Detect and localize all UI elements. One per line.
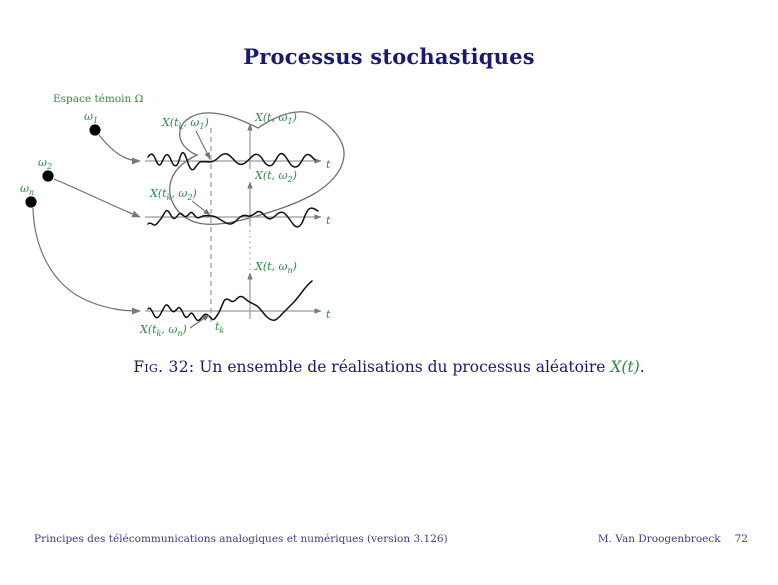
sample-point-omega-n: ωn xyxy=(20,182,37,208)
plot1-time-label: t xyxy=(326,158,331,171)
plot-realization-1: X(t, ω1) t X(tk, ω1) xyxy=(145,111,331,171)
sample-point-omega-2: ω2 xyxy=(38,156,54,182)
mapping-arrow-2 xyxy=(54,179,140,217)
omega-2-dot xyxy=(42,170,53,181)
figure-caption-period: . xyxy=(640,358,645,376)
sample-space-label: Espace témoin Ω xyxy=(53,93,144,105)
plot3-time-label: t xyxy=(326,308,331,321)
slide: Processus stochastiques Espace témoin xyxy=(0,0,778,585)
plot2-sample-pointer xyxy=(192,201,210,215)
mapping-arrow-1 xyxy=(99,135,140,161)
omega-1-dot xyxy=(89,124,100,135)
omega-2-label: ω2 xyxy=(38,156,52,171)
figure-caption-math: X(t) xyxy=(610,358,639,376)
tk-label: tk xyxy=(215,320,224,335)
omega-n-label: ωn xyxy=(20,182,34,197)
omega-1-label: ω1 xyxy=(84,110,98,125)
plot-realization-2: X(t, ω2) t X(tk, ω2) xyxy=(145,169,331,227)
plot2-time-label: t xyxy=(326,214,331,227)
page-number: 72 xyxy=(735,533,748,545)
figure-svg: Espace témoin Ω ω1 ω2 ωn xyxy=(0,85,778,350)
sample-point-omega-1: ω1 xyxy=(84,110,101,136)
footer-right: M. Van Droogenbroeck 72 xyxy=(598,533,748,545)
page-title: Processus stochastiques xyxy=(0,44,778,69)
plot3-sample-label: X(tk, ωn) xyxy=(139,323,187,338)
figure-caption: Fig. 32: Un ensemble de réalisations du … xyxy=(0,358,778,376)
figure-stochastic-processes: Espace témoin Ω ω1 ω2 ωn xyxy=(0,85,778,350)
plot3-sample-pointer xyxy=(190,315,209,328)
figure-caption-text: Un ensemble de réalisations du processus… xyxy=(199,358,605,376)
footer-author: M. Van Droogenbroeck xyxy=(598,533,721,545)
plot-realization-n: X(t, ωn) t X(tk, ωn) tk xyxy=(139,260,331,338)
mapping-arrow-n xyxy=(33,208,140,311)
plot3-axis-label: X(t, ωn) xyxy=(254,260,297,275)
plot1-sample-label: X(tk, ω1) xyxy=(161,116,209,131)
plot2-axis-label: X(t, ω2) xyxy=(254,169,297,184)
figure-caption-label: Fig. 32: xyxy=(133,358,194,376)
plot2-sample-label: X(tk, ω2) xyxy=(149,187,197,202)
footer-document-title: Principes des télécommunications analogi… xyxy=(34,533,448,545)
omega-n-dot xyxy=(25,196,36,207)
plot3-signal-trace xyxy=(148,281,312,320)
